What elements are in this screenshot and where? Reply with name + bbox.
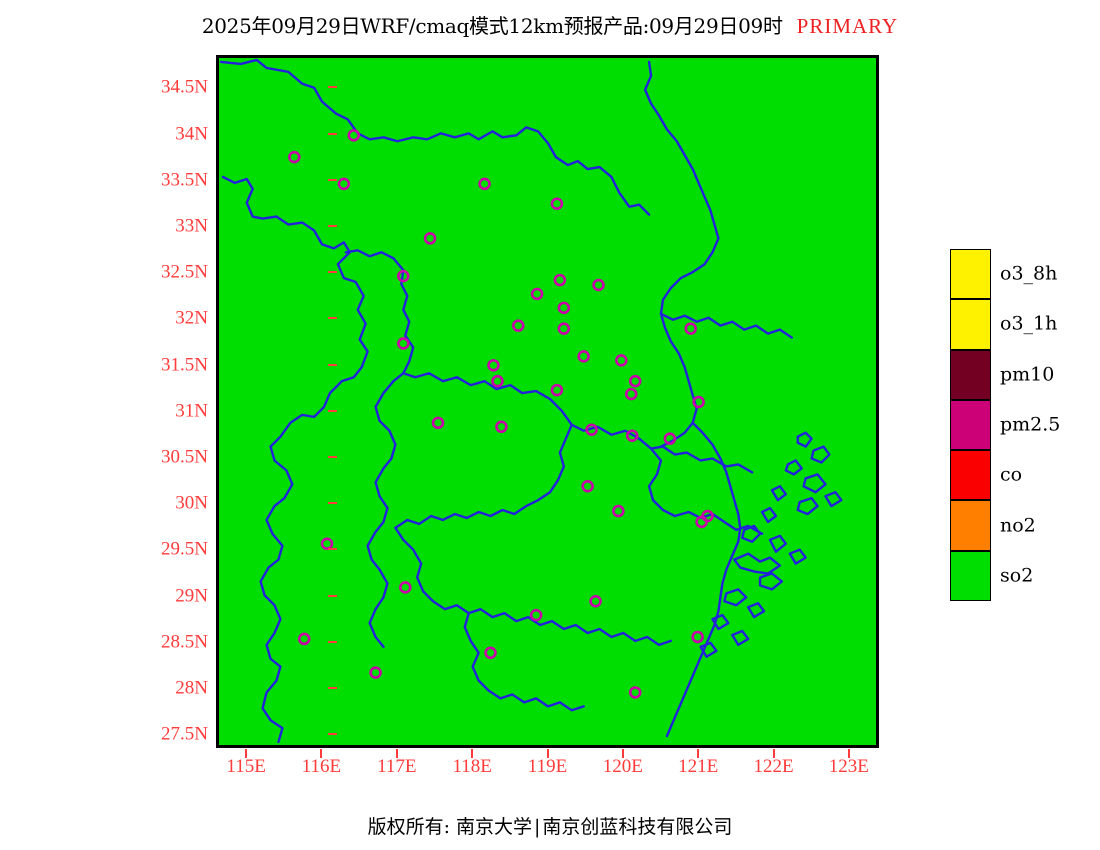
- legend-item-label: so2: [1000, 566, 1033, 585]
- legend-color-swatch: [950, 299, 991, 349]
- longitude-tick-label: 115E: [226, 757, 265, 776]
- legend-item-no2[interactable]: no2: [950, 500, 1095, 550]
- legend-color-swatch: [950, 500, 991, 550]
- copyright-footer: 版权所有: 南京大学|南京创蓝科技有限公司: [0, 812, 1100, 839]
- longitude-tick-label: 120E: [603, 757, 643, 776]
- legend-color-swatch: [950, 551, 991, 601]
- longitude-tick-mark: [245, 749, 247, 758]
- legend-item-label: no2: [1000, 516, 1036, 535]
- longitude-tick-label: 122E: [753, 757, 793, 776]
- legend-item-label: pm2.5: [1000, 415, 1060, 434]
- longitude-tick-mark: [773, 749, 775, 758]
- longitude-tick-label: 119E: [528, 757, 567, 776]
- longitude-tick-mark: [697, 749, 699, 758]
- longitude-tick-label: 116E: [302, 757, 341, 776]
- legend-item-pm10[interactable]: pm10: [950, 350, 1095, 400]
- longitude-tick-mark: [622, 749, 624, 758]
- legend-color-swatch: [950, 350, 991, 400]
- legend-color-swatch: [950, 400, 991, 450]
- longitude-axis: 115E116E117E118E119E120E121E122E123E: [0, 0, 1100, 850]
- legend-item-so2[interactable]: so2: [950, 551, 1095, 601]
- pollutant-legend[interactable]: o3_8ho3_1hpm10pm2.5cono2so2: [950, 249, 1095, 601]
- legend-item-co[interactable]: co: [950, 450, 1095, 500]
- longitude-tick-label: 121E: [678, 757, 718, 776]
- longitude-tick-mark: [396, 749, 398, 758]
- longitude-tick-label: 117E: [377, 757, 416, 776]
- longitude-tick-mark: [471, 749, 473, 758]
- legend-color-swatch: [950, 450, 991, 500]
- legend-item-label: co: [1000, 466, 1022, 485]
- copyright-company: 南京创蓝科技有限公司: [542, 816, 732, 838]
- legend-item-o3-8h[interactable]: o3_8h: [950, 249, 1095, 299]
- legend-item-label: o3_8h: [1000, 265, 1057, 284]
- legend-item-label: pm10: [1000, 365, 1054, 384]
- longitude-tick-mark: [547, 749, 549, 758]
- longitude-tick-label: 118E: [452, 757, 491, 776]
- footer-separator: |: [532, 816, 542, 838]
- legend-color-swatch: [950, 249, 991, 299]
- longitude-tick-mark: [320, 749, 322, 758]
- legend-item-pm2-5[interactable]: pm2.5: [950, 400, 1095, 450]
- legend-item-label: o3_1h: [1000, 315, 1057, 334]
- copyright-owner: 版权所有: 南京大学: [368, 816, 532, 838]
- legend-item-o3-1h[interactable]: o3_1h: [950, 299, 1095, 349]
- longitude-tick-label: 123E: [829, 757, 869, 776]
- longitude-tick-mark: [848, 749, 850, 758]
